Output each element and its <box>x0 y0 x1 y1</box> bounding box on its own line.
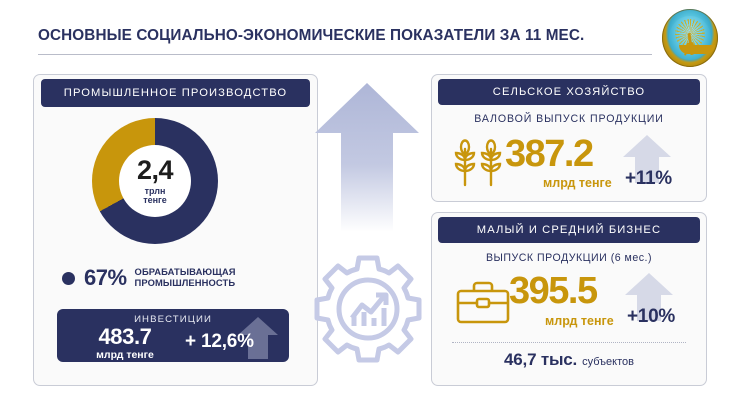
page-title: ОСНОВНЫЕ СОЦИАЛЬНО-ЭКОНОМИЧЕСКИЕ ПОКАЗАТ… <box>38 27 584 45</box>
donut-center: 2,4 трлн тенге <box>119 145 191 217</box>
title-divider <box>38 54 652 55</box>
legend-dot-icon <box>62 272 75 285</box>
gear-chart-graphic <box>312 250 424 368</box>
agriculture-value-row: 387.2 млрд тенге +11% <box>431 133 707 195</box>
legend-label-line1: ОБРАБАТЫВАЮЩАЯ <box>135 266 236 277</box>
investments-value-group: 483.7 млрд тенге <box>73 326 177 361</box>
industrial-production-heading: ПРОМЫШЛЕННОЕ ПРОИЗВОДСТВО <box>41 79 310 107</box>
agriculture-subtitle: ВАЛОВОЙ ВЫПУСК ПРОДУКЦИИ <box>431 113 707 125</box>
investments-unit: млрд тенге <box>73 349 177 361</box>
agriculture-heading: СЕЛЬСКОЕ ХОЗЯЙСТВО <box>438 79 700 105</box>
agriculture-delta: +11% <box>625 168 672 190</box>
sme-delta: +10% <box>627 306 675 328</box>
up-arrow-graphic <box>312 80 422 232</box>
agriculture-unit: млрд тенге <box>543 176 612 190</box>
legend-label: ОБРАБАТЫВАЮЩАЯ ПРОМЫШЛЕННОСТЬ <box>135 267 236 289</box>
donut-value: 2,4 <box>137 157 173 184</box>
donut-unit: трлн тенге <box>143 187 167 206</box>
investments-value: 483.7 <box>73 326 177 348</box>
briefcase-icon <box>455 279 511 325</box>
sme-count-value: 46,7 тыс. <box>504 350 577 369</box>
wheat-icon <box>451 139 507 189</box>
industry-donut-chart: 2,4 трлн тенге <box>92 118 218 244</box>
donut-unit-line2: тенге <box>143 195 167 205</box>
investments-delta: + 12,6% <box>185 331 254 353</box>
sme-heading: МАЛЫЙ И СРЕДНИЙ БИЗНЕС <box>438 217 700 243</box>
sme-count-label: субъектов <box>582 356 634 368</box>
sme-separator <box>452 342 686 343</box>
investments-box: ИНВЕСТИЦИИ 483.7 млрд тенге + 12,6% <box>57 309 289 362</box>
investments-title: ИНВЕСТИЦИИ <box>57 314 289 325</box>
emblem-base <box>679 45 715 54</box>
sme-subtitle: ВЫПУСК ПРОДУКЦИИ (6 мес.) <box>431 252 707 264</box>
sme-value-row: 395.5 млрд тенге +10% <box>431 271 707 333</box>
sme-unit: млрд тенге <box>545 314 614 328</box>
industry-legend: 67% ОБРАБАТЫВАЮЩАЯ ПРОМЫШЛЕННОСТЬ <box>62 265 236 291</box>
emblem-inner <box>669 16 711 60</box>
legend-percent: 67% <box>84 265 127 291</box>
legend-label-line2: ПРОМЫШЛЕННОСТЬ <box>135 277 236 288</box>
agriculture-value: 387.2 <box>505 135 593 173</box>
kazakhstan-emblem-icon <box>662 9 718 67</box>
sme-value: 395.5 <box>509 272 597 310</box>
page-header: ОСНОВНЫЕ СОЦИАЛЬНО-ЭКОНОМИЧЕСКИЕ ПОКАЗАТ… <box>0 0 740 68</box>
sme-count-row: 46,7 тыс.субъектов <box>431 350 707 370</box>
